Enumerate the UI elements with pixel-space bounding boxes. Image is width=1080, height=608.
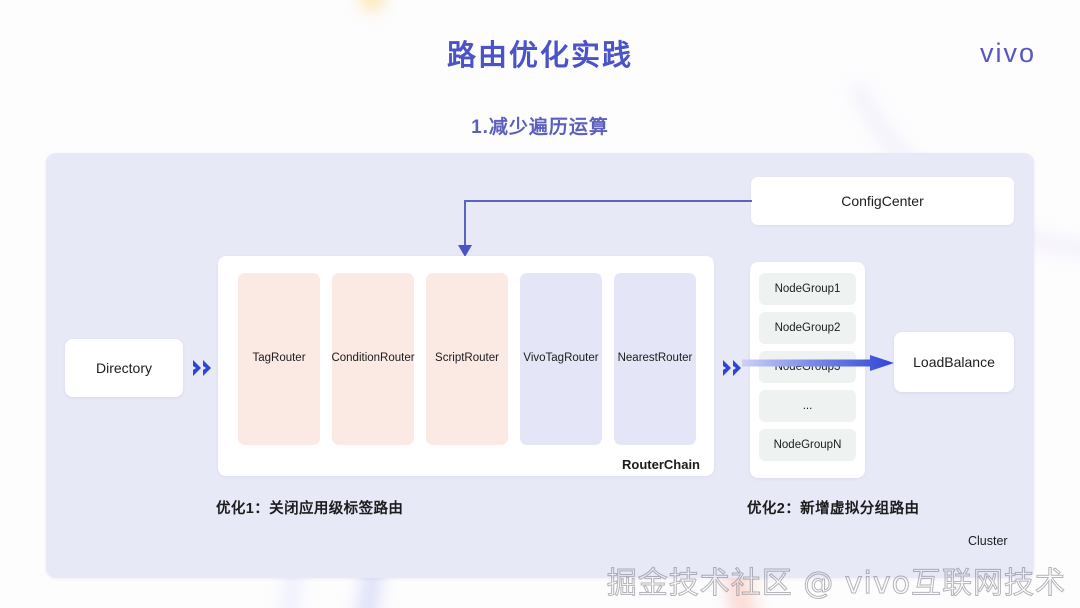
router-box-label: TagRouter bbox=[252, 352, 305, 366]
router-box-vivotagrouter[interactable]: VivoTagRouter bbox=[520, 273, 602, 445]
config-center-label: ConfigCenter bbox=[841, 193, 924, 209]
router-box-label: NearestRouter bbox=[618, 352, 693, 366]
optimization-2-caption: 优化2：新增虚拟分组路由 bbox=[747, 497, 919, 518]
router-chain-label: RouterChain bbox=[218, 457, 700, 472]
double-chevron-right-icon-routerchain bbox=[722, 359, 744, 377]
directory-box[interactable]: Directory bbox=[65, 339, 183, 397]
router-box-scriptrouter[interactable]: ScriptRouter bbox=[426, 273, 508, 445]
optimization-1-caption: 优化1：关闭应用级标签路由 bbox=[216, 497, 403, 518]
directory-label: Directory bbox=[96, 360, 152, 376]
slide-canvas: 路由优化实践 1.减少遍历运算 vivo ConfigCenter Direct… bbox=[0, 0, 1080, 608]
router-box-tagrouter[interactable]: TagRouter bbox=[238, 273, 320, 445]
node-group-item-ellipsis: ... bbox=[759, 390, 856, 422]
loadbalance-box[interactable]: LoadBalance bbox=[894, 332, 1014, 392]
node-group-item[interactable]: NodeGroup2 bbox=[759, 312, 856, 344]
node-group-item[interactable]: NodeGroup1 bbox=[759, 273, 856, 305]
config-center-box[interactable]: ConfigCenter bbox=[751, 177, 1014, 225]
router-box-label: ScriptRouter bbox=[435, 352, 499, 366]
page-subtitle: 1.减少遍历运算 bbox=[0, 112, 1080, 139]
cluster-label: Cluster bbox=[968, 534, 1008, 548]
node-group-label: NodeGroup2 bbox=[775, 322, 841, 334]
node-group-label: NodeGroup1 bbox=[775, 283, 841, 295]
loadbalance-flow-arrow-icon bbox=[742, 355, 894, 371]
router-chain-container: TagRouter ConditionRouter ScriptRouter V… bbox=[218, 256, 714, 476]
router-box-label: ConditionRouter bbox=[331, 352, 414, 366]
page-title: 路由优化实践 bbox=[0, 32, 1080, 74]
config-center-connector-horizontal bbox=[464, 200, 752, 202]
node-group-item[interactable]: NodeGroupN bbox=[759, 429, 856, 461]
loadbalance-label: LoadBalance bbox=[913, 354, 995, 370]
router-box-nearestrouter[interactable]: NearestRouter bbox=[614, 273, 696, 445]
router-box-list: TagRouter ConditionRouter ScriptRouter V… bbox=[238, 273, 696, 445]
router-box-conditionrouter[interactable]: ConditionRouter bbox=[332, 273, 414, 445]
node-group-label: ... bbox=[803, 400, 813, 412]
node-group-label: NodeGroupN bbox=[774, 439, 842, 451]
watermark-text: 掘金技术社区 @ vivo互联网技术 bbox=[607, 558, 1066, 602]
router-box-label: VivoTagRouter bbox=[523, 352, 598, 366]
vivo-logo: vivo bbox=[980, 38, 1036, 69]
double-chevron-right-icon-directory bbox=[192, 359, 214, 377]
config-center-connector-vertical bbox=[464, 200, 466, 248]
